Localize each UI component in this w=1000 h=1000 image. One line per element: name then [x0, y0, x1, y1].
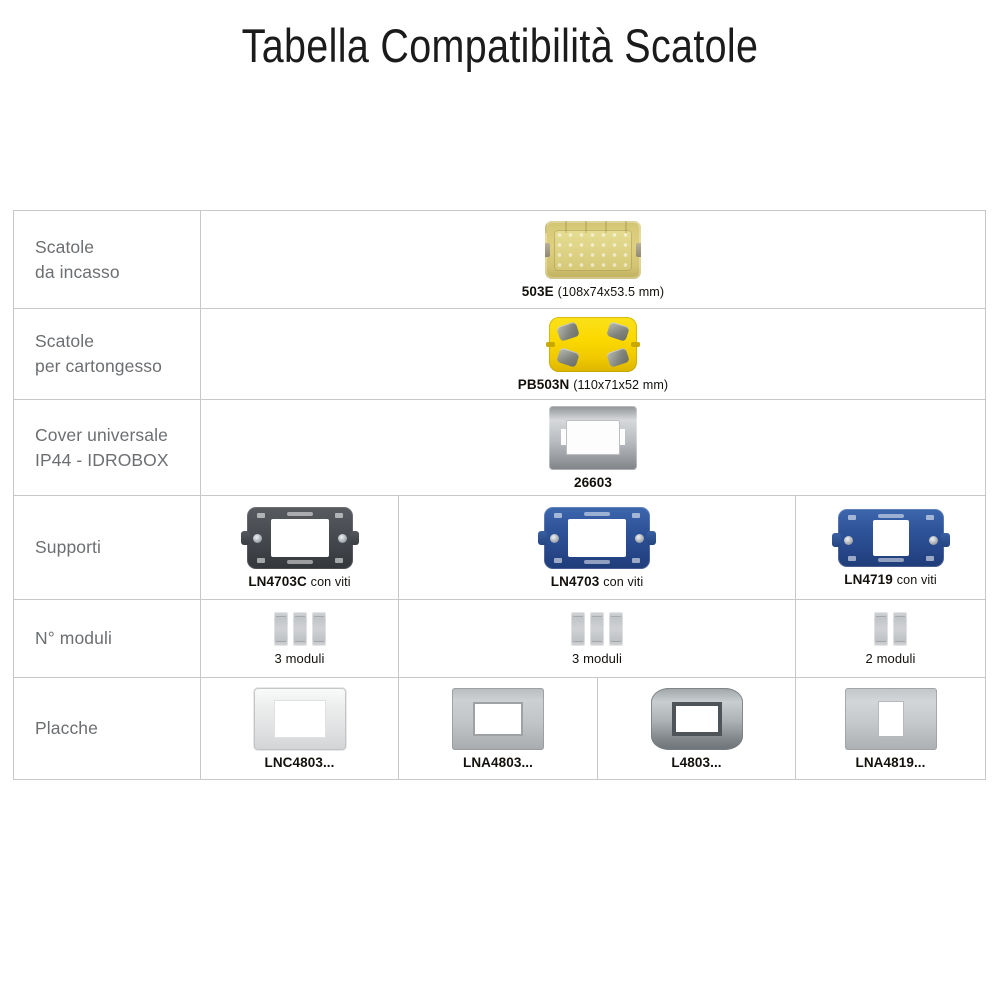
module-block — [312, 612, 326, 646]
module-block — [293, 612, 307, 646]
support-tick — [335, 513, 343, 518]
row-label-line1: Placche — [35, 716, 98, 741]
support-opening — [271, 519, 329, 557]
table-row: Scatole per cartongesso PB503N (110x71x5… — [14, 309, 986, 400]
row-label-cover-universale: Cover universale IP44 - IDROBOX — [14, 400, 201, 495]
table-row: Cover universale IP44 - IDROBOX 26603 — [14, 400, 986, 496]
table-row: N° moduli 3 moduli 3 moduli — [14, 600, 986, 678]
modules-group-3 — [571, 612, 623, 646]
module-block — [893, 612, 907, 646]
cell-pb503n: PB503N (110x71x52 mm) — [201, 309, 986, 399]
drywall-box-pb503n-image — [549, 317, 637, 372]
cell-l4803: L4803... — [598, 678, 796, 779]
cell-ln4703: LN4703 con viti — [399, 496, 796, 599]
plate-lna4819-image — [845, 688, 937, 750]
caption-ln4703c: LN4703C con viti — [248, 574, 350, 589]
product-code: LN4703C — [248, 574, 306, 589]
support-ear-right-icon — [350, 531, 359, 545]
support-tick — [848, 515, 856, 520]
support-bar-top — [878, 514, 904, 518]
support-opening — [568, 519, 626, 557]
box-tab-left-icon — [546, 342, 555, 347]
caption-pb503n: PB503N (110x71x52 mm) — [518, 377, 668, 392]
cell-26603: 26603 — [201, 400, 986, 495]
module-block — [590, 612, 604, 646]
product-code: PB503N — [518, 377, 570, 392]
support-ear-left-icon — [241, 531, 250, 545]
cell-moduli-3: 2 moduli — [796, 600, 986, 677]
support-tick — [554, 513, 562, 518]
product-code: 26603 — [574, 475, 612, 490]
row-label-placche: Placche — [14, 678, 201, 779]
support-tick — [632, 513, 640, 518]
cover-26603-image — [549, 406, 637, 470]
box-tab-right-icon — [631, 342, 640, 347]
module-block — [274, 612, 288, 646]
support-ln4703-image — [544, 507, 650, 569]
caption-26603: 26603 — [574, 475, 612, 490]
caption-lna4819: LNA4819... — [855, 755, 925, 770]
row-label-scatole-da-incasso: Scatole da incasso — [14, 211, 201, 308]
product-code: 503E — [522, 284, 554, 299]
support-tick — [554, 558, 562, 563]
caption-503e: 503E (108x74x53.5 mm) — [522, 284, 664, 299]
plate-lnc4803-image — [254, 688, 346, 750]
support-tick — [632, 558, 640, 563]
product-suffix: con viti — [603, 575, 643, 589]
support-tick — [926, 556, 934, 561]
module-block — [874, 612, 888, 646]
support-tick — [926, 515, 934, 520]
cell-moduli-2: 3 moduli — [399, 600, 796, 677]
support-ear-right-icon — [647, 531, 656, 545]
screw-icon — [338, 534, 347, 543]
row-label-line2: per cartongesso — [35, 354, 162, 379]
support-tick — [257, 513, 265, 518]
screw-icon — [635, 534, 644, 543]
support-bar-bottom — [584, 560, 610, 564]
claw-icon — [606, 321, 630, 341]
row-label-line2: IP44 - IDROBOX — [35, 448, 169, 473]
caption-moduli-1: 3 moduli — [275, 651, 325, 666]
support-bar-bottom — [878, 558, 904, 562]
claw-icon — [556, 347, 580, 367]
support-bar-top — [584, 512, 610, 516]
product-code: LN4719 — [844, 572, 893, 587]
screw-icon — [253, 534, 262, 543]
row-label-scatole-per-cartongesso: Scatole per cartongesso — [14, 309, 201, 399]
product-code: LNA4819... — [855, 755, 925, 770]
screw-icon — [844, 536, 853, 545]
cell-moduli-1: 3 moduli — [201, 600, 399, 677]
caption-moduli-2: 3 moduli — [572, 651, 622, 666]
cover-window — [566, 420, 620, 455]
product-code: LN4703 — [551, 574, 600, 589]
cell-lnc4803: LNC4803... — [201, 678, 399, 779]
screw-icon — [550, 534, 559, 543]
modules-group-2 — [874, 612, 907, 646]
support-opening — [873, 520, 909, 556]
support-ear-left-icon — [538, 531, 547, 545]
caption-l4803: L4803... — [671, 755, 721, 770]
claw-icon — [556, 321, 580, 341]
product-code: L4803... — [671, 755, 721, 770]
support-bar-bottom — [287, 560, 313, 564]
page-title: Tabella Compatibilità Scatole — [80, 18, 920, 73]
support-bar-top — [287, 512, 313, 516]
row-label-line1: Scatole — [35, 329, 94, 354]
row-label-line1: N° moduli — [35, 626, 112, 651]
screw-icon — [929, 536, 938, 545]
product-code: LNA4803... — [463, 755, 533, 770]
plate-opening — [274, 700, 326, 738]
plate-opening — [473, 702, 523, 736]
plate-lna4803-image — [452, 688, 544, 750]
product-dimensions: (110x71x52 mm) — [573, 378, 668, 392]
row-label-n-moduli: N° moduli — [14, 600, 201, 677]
row-label-line1: Cover universale — [35, 423, 168, 448]
support-tick — [335, 558, 343, 563]
support-ear-right-icon — [941, 533, 950, 547]
cell-503e: 503E (108x74x53.5 mm) — [201, 211, 986, 308]
support-tick — [257, 558, 265, 563]
claw-icon — [606, 347, 630, 367]
module-block — [609, 612, 623, 646]
cell-lna4803: LNA4803... — [399, 678, 598, 779]
support-tick — [848, 556, 856, 561]
support-ear-left-icon — [832, 533, 841, 547]
caption-ln4719: LN4719 con viti — [844, 572, 937, 587]
support-ln4703c-image — [247, 507, 353, 569]
caption-lnc4803: LNC4803... — [264, 755, 334, 770]
box-tab-left-icon — [545, 243, 550, 257]
product-code: LNC4803... — [264, 755, 334, 770]
product-dimensions: (108x74x53.5 mm) — [558, 285, 665, 299]
row-label-supporti: Supporti — [14, 496, 201, 599]
module-block — [571, 612, 585, 646]
table-row: Supporti LN4703C con viti — [14, 496, 986, 600]
cell-lna4819: LNA4819... — [796, 678, 986, 779]
row-label-line1: Supporti — [35, 535, 101, 560]
support-ln4719-image — [838, 509, 944, 567]
caption-moduli-3: 2 moduli — [866, 651, 916, 666]
modules-group-3 — [274, 612, 326, 646]
row-label-line1: Scatole — [35, 235, 94, 260]
table-row: Placche LNC4803... LNA4803... L4803... — [14, 678, 986, 780]
table-row: Scatole da incasso 503E (108x74x53.5 mm) — [14, 211, 986, 309]
row-label-line2: da incasso — [35, 260, 120, 285]
plate-opening — [672, 702, 722, 736]
product-suffix: con viti — [311, 575, 351, 589]
plate-opening — [878, 701, 904, 737]
plate-l4803-image — [651, 688, 743, 750]
flush-box-503e-image — [545, 221, 641, 279]
box-tab-right-icon — [636, 243, 641, 257]
compatibility-table: Scatole da incasso 503E (108x74x53.5 mm)… — [13, 210, 986, 780]
caption-lna4803: LNA4803... — [463, 755, 533, 770]
compatibility-table-page: Tabella Compatibilità Scatole Scatole da… — [0, 0, 1000, 1000]
cell-ln4719: LN4719 con viti — [796, 496, 986, 599]
cell-ln4703c: LN4703C con viti — [201, 496, 399, 599]
caption-ln4703: LN4703 con viti — [551, 574, 644, 589]
product-suffix: con viti — [897, 573, 937, 587]
